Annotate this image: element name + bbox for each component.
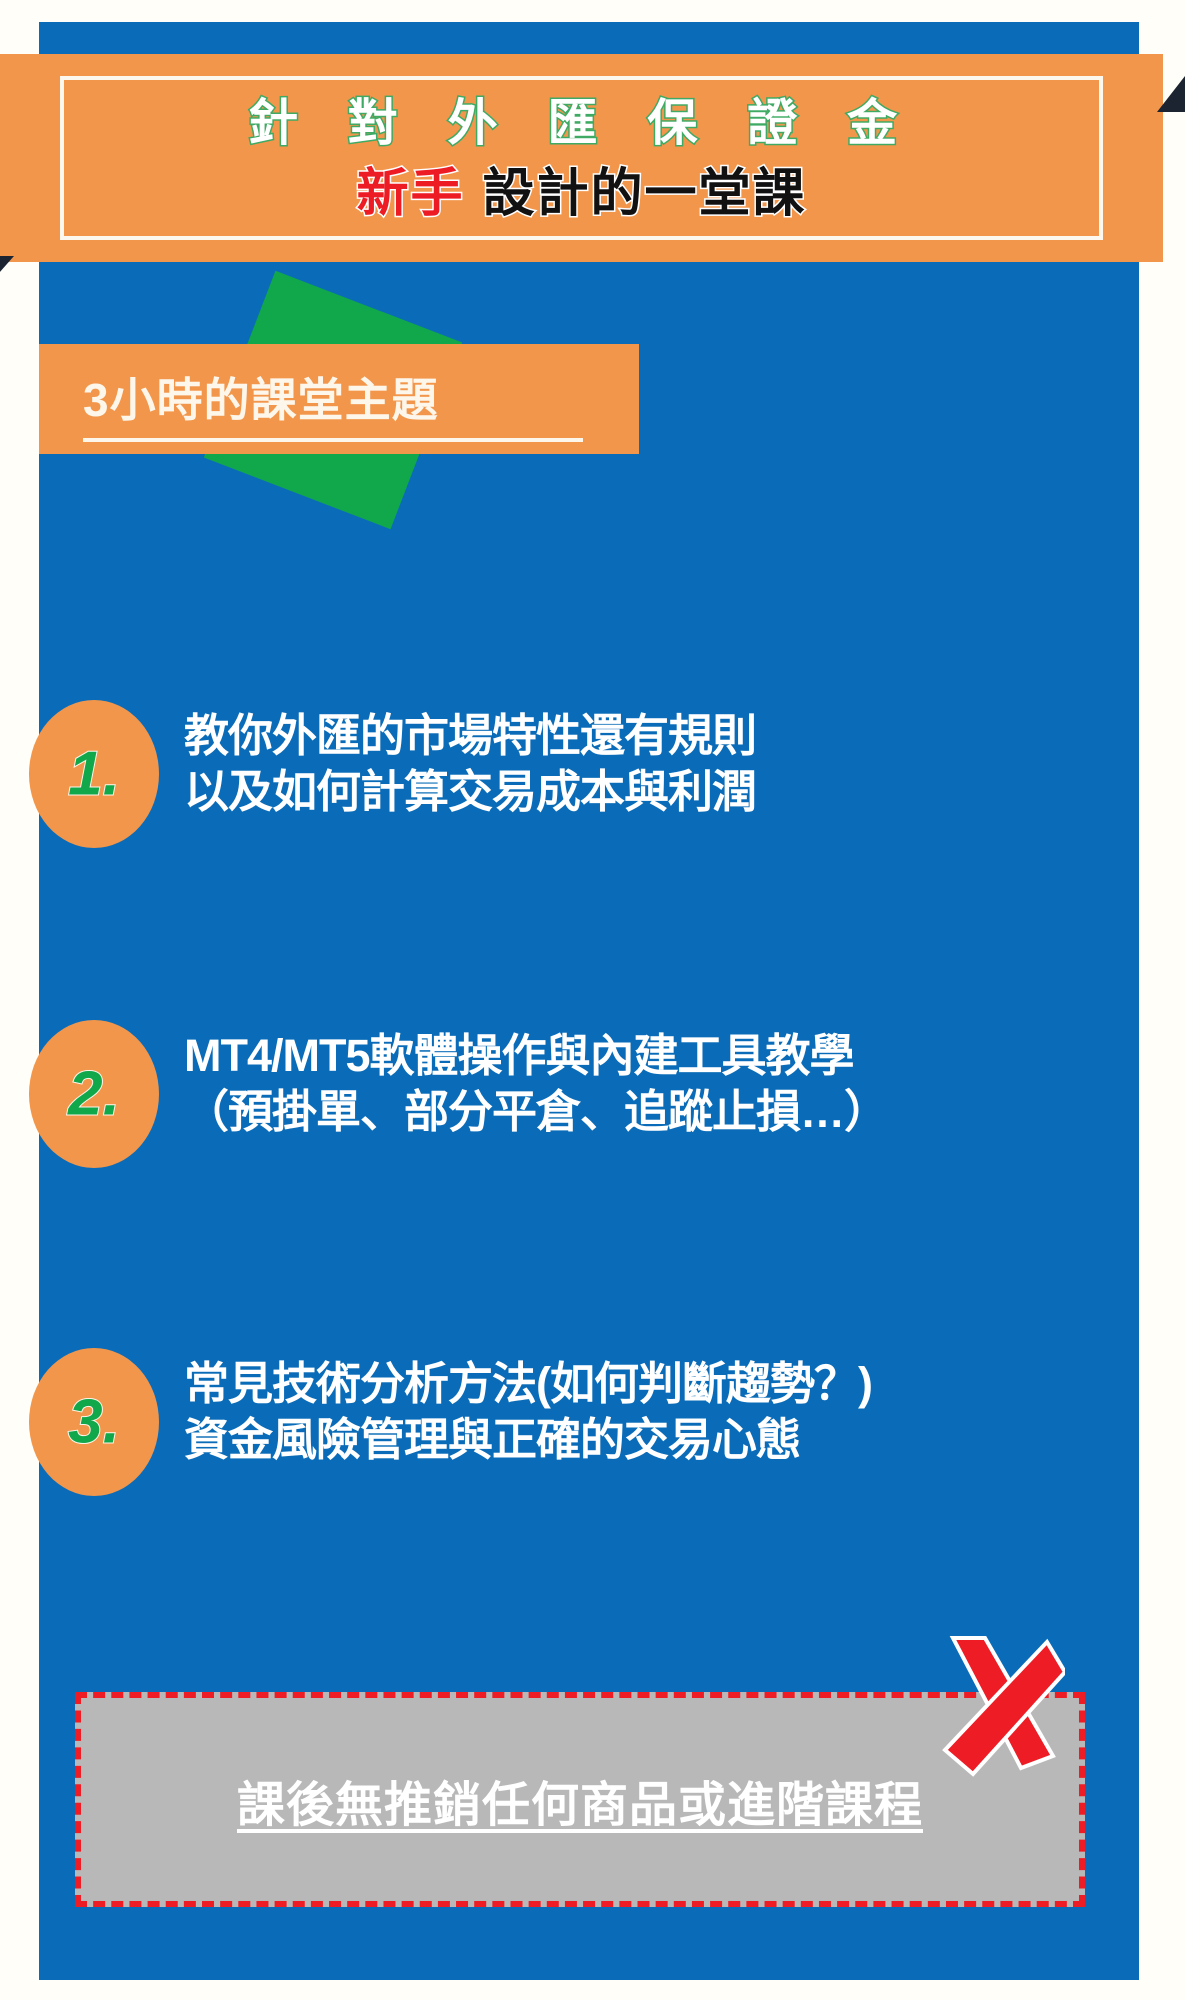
list-item: 1. 教你外匯的市場特性還有規則 以及如何計算交易成本與利潤 bbox=[39, 700, 1149, 880]
list-item-number-badge: 3. bbox=[29, 1348, 159, 1496]
section-heading-underline bbox=[83, 438, 583, 442]
list-item-number: 3. bbox=[29, 1387, 159, 1458]
section-heading-label: 3小時的課堂主題 bbox=[83, 364, 439, 430]
list-item-number-badge: 2. bbox=[29, 1020, 159, 1168]
notice-text-underlined: 課後無推銷任何商品或進階課程 bbox=[237, 1779, 923, 1832]
folded-corner-bottom-left-icon bbox=[0, 256, 14, 290]
list-item: 2. MT4/MT5軟體操作與內建工具教學 （預掛單、部分平倉、追蹤止損…） bbox=[39, 1020, 1149, 1200]
poster-root: 針 對 外 匯 保 證 金 新手設計的一堂課 3小時的課堂主題 1. 教你外匯的… bbox=[0, 0, 1185, 2000]
title-line-1: 針 對 外 匯 保 證 金 bbox=[0, 92, 1163, 155]
list-item-line-1: 常見技術分析方法(如何判斷趨勢？) bbox=[184, 1356, 872, 1412]
list-item-line-2: 以及如何計算交易成本與利潤 bbox=[184, 764, 756, 820]
red-x-icon bbox=[935, 1628, 1065, 1778]
list-item-text: 常見技術分析方法(如何判斷趨勢？) 資金風險管理與正確的交易心態 bbox=[184, 1356, 872, 1469]
list-item-number-badge: 1. bbox=[29, 700, 159, 848]
title-highlight-text: 新手 bbox=[356, 165, 464, 223]
list-item-line-1: MT4/MT5軟體操作與內建工具教學 bbox=[184, 1028, 888, 1084]
title-line-2: 新手設計的一堂課 bbox=[0, 161, 1163, 229]
title-rest-text: 設計的一堂課 bbox=[483, 165, 807, 223]
page-title: 針 對 外 匯 保 證 金 新手設計的一堂課 bbox=[0, 92, 1163, 228]
list-item-line-2: 資金風險管理與正確的交易心態 bbox=[184, 1412, 872, 1468]
list-item-line-1: 教你外匯的市場特性還有規則 bbox=[184, 708, 756, 764]
list-item-line-2: （預掛單、部分平倉、追蹤止損…） bbox=[184, 1084, 888, 1140]
list-item: 3. 常見技術分析方法(如何判斷趨勢？) 資金風險管理與正確的交易心態 bbox=[39, 1348, 1149, 1528]
section-heading-ribbon: 3小時的課堂主題 bbox=[39, 344, 639, 454]
list-item-number: 2. bbox=[29, 1059, 159, 1130]
list-item-number: 1. bbox=[29, 739, 159, 810]
list-item-text: MT4/MT5軟體操作與內建工具教學 （預掛單、部分平倉、追蹤止損…） bbox=[184, 1028, 888, 1141]
header-banner: 針 對 外 匯 保 證 金 新手設計的一堂課 bbox=[0, 54, 1163, 262]
notice-box: 課後無推銷任何商品或進階課程 bbox=[75, 1692, 1085, 1907]
notice-text: 課後無推銷任何商品或進階課程 bbox=[81, 1765, 1079, 1835]
list-item-text: 教你外匯的市場特性還有規則 以及如何計算交易成本與利潤 bbox=[184, 708, 756, 821]
